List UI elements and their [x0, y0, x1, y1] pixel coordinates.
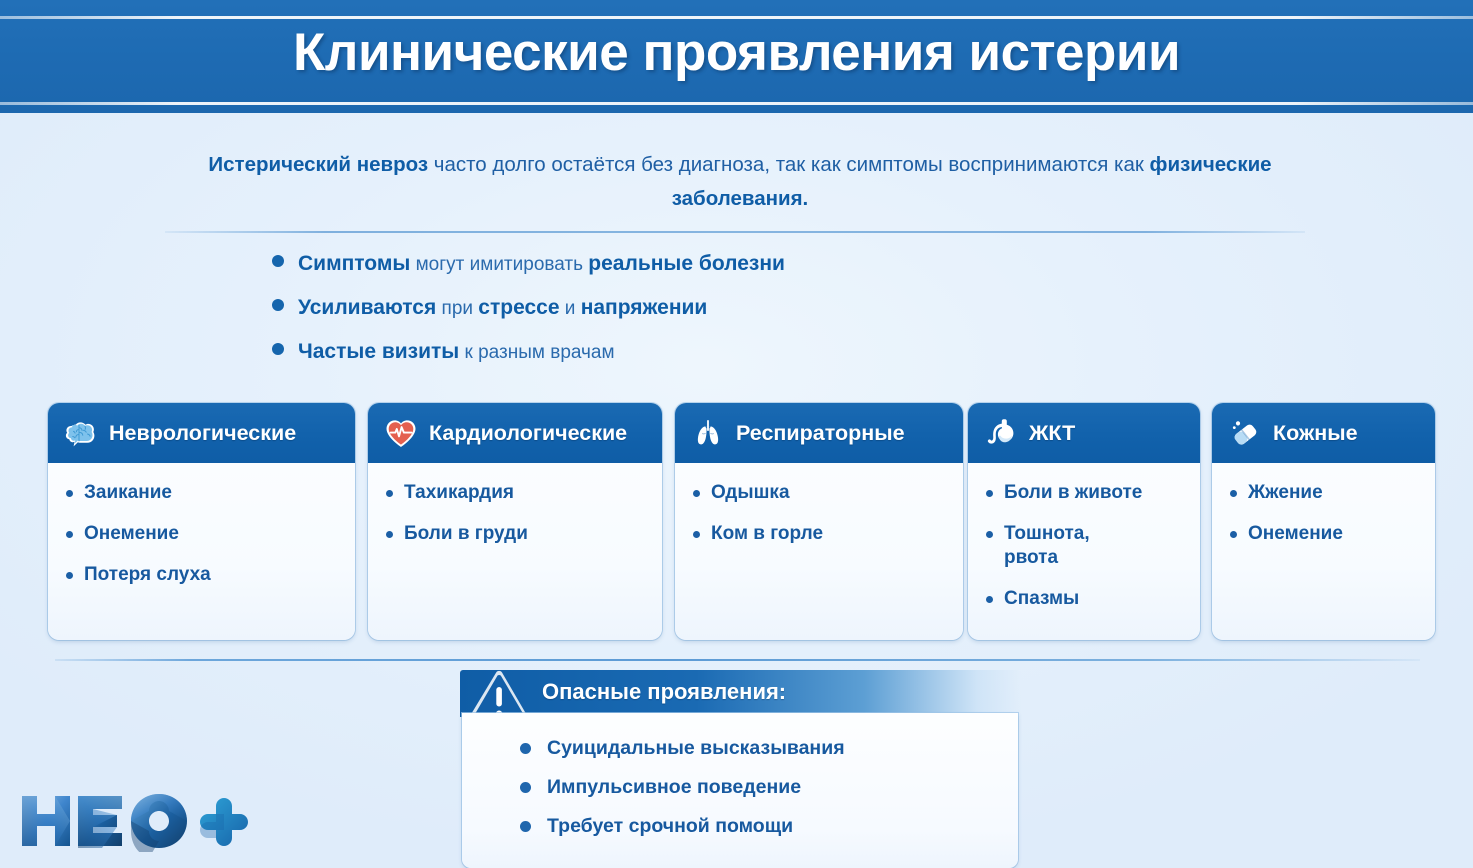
card-item-label: Заикание — [84, 481, 172, 505]
card-body: Жжение Онемение — [1212, 463, 1435, 573]
danger-list-item: Импульсивное поведение — [520, 768, 1018, 807]
brain-icon — [61, 413, 101, 453]
bullet-dot-icon — [520, 782, 531, 793]
card-header: Кожные — [1212, 403, 1435, 463]
card-title: ЖКТ — [1029, 421, 1075, 446]
bullet-dot-icon — [272, 299, 284, 311]
keypoint-lead: Частые визиты — [298, 340, 459, 363]
bullet-dot-icon — [520, 743, 531, 754]
card-header: Неврологические — [48, 403, 355, 463]
card-list-item: Онемение — [66, 522, 343, 546]
card-list-item: Заикание — [66, 481, 343, 505]
heart-pulse-icon — [381, 413, 421, 453]
danger-list-item: Суицидальные высказывания — [520, 729, 1018, 768]
keypoint-middle-2: и — [560, 298, 581, 319]
neo-plus-logo-icon — [18, 790, 258, 852]
bullet-dot-icon — [386, 531, 393, 538]
lungs-icon — [688, 413, 728, 453]
keypoint-bold-tail: реальные болезни — [588, 252, 785, 275]
bullet-dot-icon — [272, 255, 284, 267]
card-list-item: Тошнота, рвота — [986, 522, 1188, 570]
bullet-dot-icon — [693, 531, 700, 538]
card-body: Одышка Ком в горле — [675, 463, 963, 573]
card-respiratory[interactable]: Респираторные Одышка Ком в горле — [675, 403, 963, 640]
bullet-dot-icon — [1230, 531, 1237, 538]
card-item-label: Тошнота, рвота — [1004, 522, 1124, 570]
intro-paragraph: Истерический невроз часто долго остаётся… — [150, 148, 1330, 216]
category-cards: Неврологические Заикание Онемение Потеря… — [0, 403, 1473, 643]
danger-item-label: Требует срочной помощи — [547, 815, 793, 838]
bullet-dot-icon — [693, 490, 700, 497]
danger-callout-title: Опасные проявления: — [542, 679, 786, 705]
card-header: Кардиологические — [368, 403, 662, 463]
bullet-dot-icon — [66, 490, 73, 497]
keypoint-bold-tail: стрессе — [478, 296, 559, 319]
title-banner: Клинические проявления истерии — [0, 0, 1473, 113]
keypoint-middle: к разным врачам — [459, 342, 614, 363]
card-list-item: Онемение — [1230, 522, 1423, 546]
card-item-label: Онемение — [1248, 522, 1343, 546]
card-cardiological[interactable]: Кардиологические Тахикардия Боли в груди — [368, 403, 662, 640]
bullet-dot-icon — [986, 596, 993, 603]
card-item-label: Жжение — [1248, 481, 1323, 505]
card-item-label: Ком в горле — [711, 522, 823, 546]
danger-list-item: Требует срочной помощи — [520, 807, 1018, 846]
keypoint-middle: при — [436, 298, 478, 319]
danger-item-label: Импульсивное поведение — [547, 776, 801, 799]
card-body: Заикание Онемение Потеря слуха — [48, 463, 355, 614]
card-item-label: Онемение — [84, 522, 179, 546]
keypoint-lead: Симптомы — [298, 252, 410, 275]
card-list-item: Ком в горле — [693, 522, 951, 546]
card-list-item: Одышка — [693, 481, 951, 505]
card-body: Тахикардия Боли в груди — [368, 463, 662, 573]
card-neurological[interactable]: Неврологические Заикание Онемение Потеря… — [48, 403, 355, 640]
card-list-item: Тахикардия — [386, 481, 650, 505]
bullet-dot-icon — [986, 490, 993, 497]
banner-rule-top — [0, 16, 1473, 19]
divider-bottom — [55, 659, 1420, 661]
card-list-item: Боли в животе — [986, 481, 1188, 505]
card-item-label: Спазмы — [1004, 587, 1079, 611]
card-body: Боли в животе Тошнота, рвота Спазмы — [968, 463, 1200, 638]
bullet-dot-icon — [1230, 490, 1237, 497]
bullet-dot-icon — [66, 572, 73, 579]
keypoint-item: Усиливаются при стрессе и напряжении — [272, 296, 1172, 340]
banner-rule-bottom — [0, 102, 1473, 105]
bullet-dot-icon — [520, 821, 531, 832]
card-header: Респираторные — [675, 403, 963, 463]
stomach-icon — [981, 413, 1021, 453]
keypoint-item: Симптомы могут имитировать реальные боле… — [272, 252, 1172, 296]
danger-item-label: Суицидальные высказывания — [547, 737, 845, 760]
card-item-label: Боли в животе — [1004, 481, 1142, 505]
card-item-label: Одышка — [711, 481, 790, 505]
card-item-label: Боли в груди — [404, 522, 528, 546]
skin-patch-icon — [1225, 413, 1265, 453]
card-title: Кожные — [1273, 421, 1358, 446]
keypoint-item: Частые визиты к разным врачам — [272, 340, 1172, 384]
card-title: Респираторные — [736, 421, 905, 446]
card-list-item: Боли в груди — [386, 522, 650, 546]
bullet-dot-icon — [986, 531, 993, 538]
bullet-dot-icon — [272, 343, 284, 355]
danger-callout: Опасные проявления: Суицидальные высказы… — [460, 670, 1022, 868]
keypoint-middle: могут имитировать — [410, 254, 588, 275]
page-title: Клинические проявления истерии — [0, 22, 1473, 83]
card-title: Неврологические — [109, 421, 296, 446]
card-list-item: Потеря слуха — [66, 563, 343, 587]
keypoints-list: Симптомы могут имитировать реальные боле… — [272, 252, 1172, 384]
card-gastrointestinal[interactable]: ЖКТ Боли в животе Тошнота, рвота Спазмы — [968, 403, 1200, 640]
divider-top — [165, 231, 1305, 233]
card-list-item: Спазмы — [986, 587, 1188, 611]
card-item-label: Потеря слуха — [84, 563, 211, 587]
card-header: ЖКТ — [968, 403, 1200, 463]
card-skin[interactable]: Кожные Жжение Онемение — [1212, 403, 1435, 640]
keypoint-lead: Усиливаются — [298, 296, 436, 319]
intro-lead: Истерический невроз — [208, 153, 428, 176]
card-list-item: Жжение — [1230, 481, 1423, 505]
bullet-dot-icon — [386, 490, 393, 497]
danger-callout-body: Суицидальные высказывания Импульсивное п… — [462, 713, 1018, 868]
bullet-dot-icon — [66, 531, 73, 538]
keypoint-bold-tail-2: напряжении — [581, 296, 708, 319]
card-item-label: Тахикардия — [404, 481, 514, 505]
card-title: Кардиологические — [429, 421, 627, 446]
intro-middle: часто долго остаётся без диагноза, так к… — [428, 153, 1149, 176]
